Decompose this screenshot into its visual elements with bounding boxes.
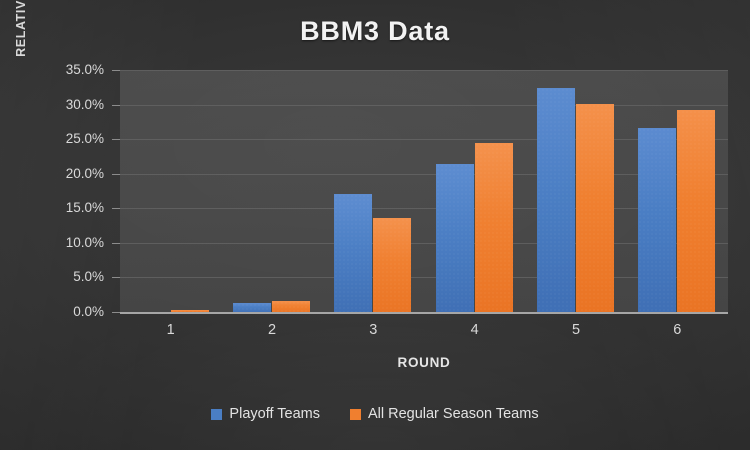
y-axis-tick-label: 30.0% [14, 98, 104, 112]
x-axis-tick-label: 1 [120, 322, 221, 338]
bar[interactable] [436, 164, 474, 313]
legend-label: Playoff Teams [229, 407, 320, 422]
y-axis-tick-label: 25.0% [14, 132, 104, 146]
bar[interactable] [475, 143, 513, 313]
chart-container: BBM3 Data RELATIVE FREQUENCY 0.0%5.0%10.… [0, 0, 750, 450]
y-axis-tick-mark [112, 105, 120, 106]
y-axis-tick-mark [112, 70, 120, 71]
y-axis-tick-label: 20.0% [14, 167, 104, 181]
x-axis-tick-label: 6 [627, 322, 728, 338]
y-axis-title-label: RELATIVE FREQUENCY [14, 0, 28, 100]
y-axis-tick-label: 15.0% [14, 201, 104, 215]
bar[interactable] [638, 128, 676, 313]
y-axis-tick-label: 0.0% [14, 305, 104, 319]
y-axis-tick-mark [112, 139, 120, 140]
x-axis-line [120, 312, 728, 314]
legend-item[interactable]: Playoff Teams [211, 407, 320, 422]
gridline [120, 277, 728, 278]
y-axis-tick-mark [112, 208, 120, 209]
y-axis-tick-label: 5.0% [14, 270, 104, 284]
legend-swatch-icon [211, 409, 222, 420]
x-axis-tick-label: 3 [323, 322, 424, 338]
y-axis-tick-mark [112, 174, 120, 175]
y-axis-tick-mark [112, 277, 120, 278]
plot-area [120, 70, 728, 313]
gridline [120, 208, 728, 209]
legend-label: All Regular Season Teams [368, 407, 539, 422]
y-axis-tick-mark [112, 243, 120, 244]
bar[interactable] [537, 88, 575, 313]
chart-title: BBM3 Data [0, 16, 750, 47]
chart-legend: Playoff TeamsAll Regular Season Teams [0, 407, 750, 422]
y-axis-tick-label: 10.0% [14, 236, 104, 250]
gridline [120, 243, 728, 244]
gridline [120, 105, 728, 106]
x-axis-tick-label: 2 [221, 322, 322, 338]
bar[interactable] [576, 104, 614, 313]
x-axis-tick-label: 5 [525, 322, 626, 338]
y-axis-title: RELATIVE FREQUENCY [14, 0, 38, 100]
x-axis-tick-label: 4 [424, 322, 525, 338]
legend-item[interactable]: All Regular Season Teams [350, 407, 539, 422]
bar[interactable] [334, 194, 372, 313]
bar[interactable] [373, 218, 411, 313]
y-axis-tick-label: 35.0% [14, 63, 104, 77]
x-axis-title: ROUND [120, 355, 728, 370]
gridline [120, 70, 728, 71]
bar[interactable] [677, 110, 715, 313]
gridline [120, 139, 728, 140]
gridline [120, 174, 728, 175]
legend-swatch-icon [350, 409, 361, 420]
y-axis-tick-mark [112, 312, 120, 313]
